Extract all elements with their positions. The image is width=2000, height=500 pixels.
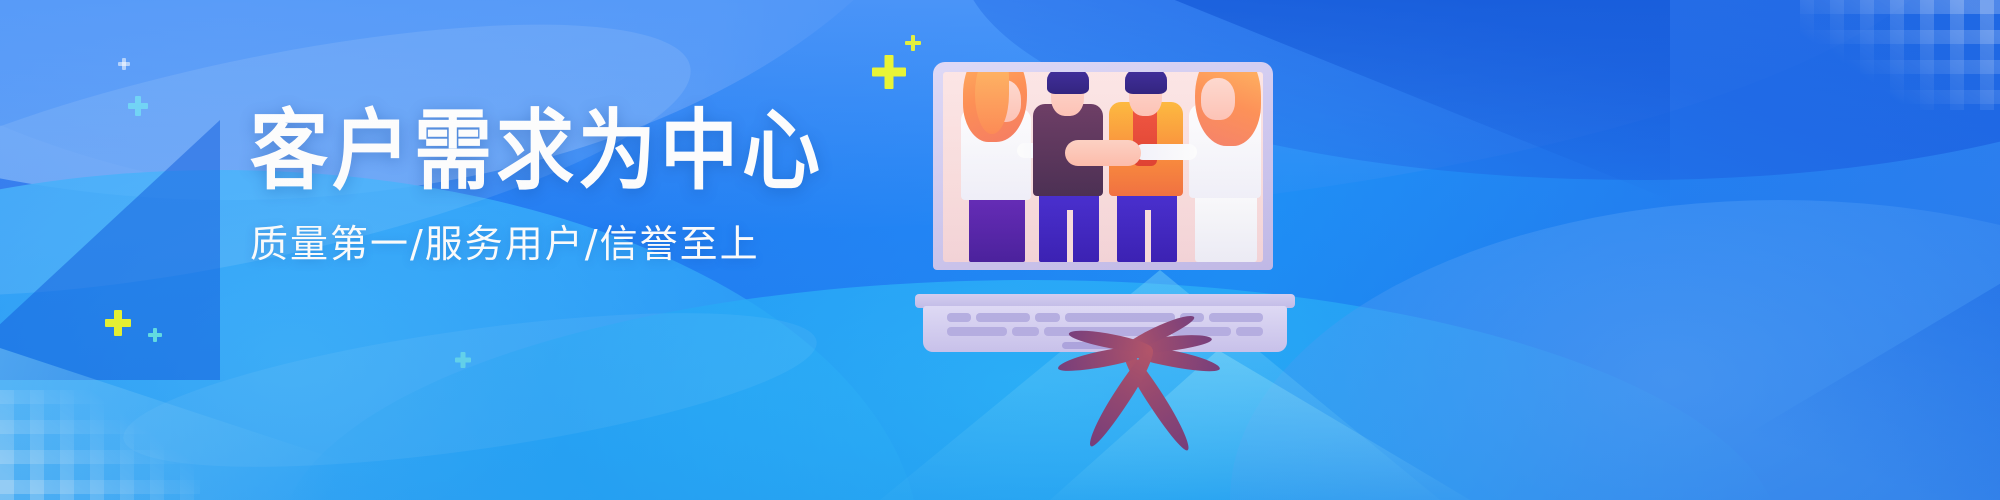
stacked-hands	[1065, 140, 1141, 166]
plus-sparkle-large-yellow	[872, 55, 906, 89]
head	[1201, 78, 1235, 120]
arm-extended	[1135, 144, 1197, 160]
hair-dark-short	[1047, 72, 1089, 94]
leaf-fronds-decoration	[898, 222, 1048, 352]
person-man-right	[1101, 72, 1189, 262]
banner-subheadline: 质量第一/服务用户/信誉至上	[250, 224, 890, 266]
leg-split-gap	[1145, 210, 1151, 262]
plus-sparkle-cyan-left	[128, 96, 148, 116]
plus-sparkle-yellow-left	[105, 310, 131, 336]
plus-sparkle-white-top	[118, 58, 130, 70]
key	[1065, 313, 1175, 322]
plus-sparkle-teal-left	[148, 328, 162, 342]
hair-dark-short	[1125, 72, 1167, 94]
plus-sparkle-small-yellow	[905, 35, 921, 51]
banner-text-block: 客户需求为中心 质量第一/服务用户/信誉至上	[250, 108, 890, 266]
leaf-fronds-decoration-right	[1228, 222, 1378, 352]
leg-split-gap	[1067, 210, 1073, 262]
facet-triangle-left	[0, 120, 220, 380]
square-grid-top-right	[1800, 0, 2000, 110]
promo-banner: 客户需求为中心 质量第一/服务用户/信誉至上	[0, 0, 2000, 500]
plus-sparkle-teal-mid	[455, 352, 471, 368]
banner-headline: 客户需求为中心	[250, 108, 890, 195]
square-grid-bottom-left	[0, 390, 200, 500]
